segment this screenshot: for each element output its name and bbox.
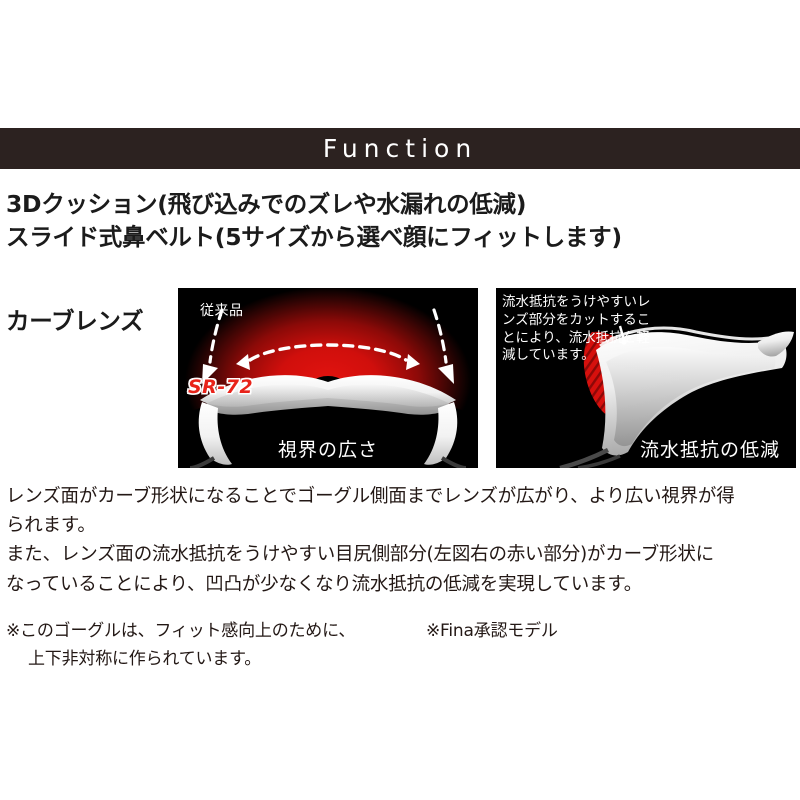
footnotes: ※このゴーグルは、フィット感向上のために、 ※Fina承認モデル 上下非対称に作… bbox=[6, 618, 796, 673]
curve-lens-label: カーブレンズ bbox=[6, 302, 143, 336]
legacy-product-label: 従来品 bbox=[200, 300, 244, 320]
body-line-4: なっていることにより、凹凸が少なくなり流水抵抗の低減を実現しています。 bbox=[6, 570, 796, 599]
caption-field-of-view: 視界の広さ bbox=[178, 435, 478, 462]
panel-field-of-view: 従来品 SR-72 視界の広さ bbox=[178, 288, 478, 468]
footnote-fina-approved: ※Fina承認モデル bbox=[426, 618, 558, 646]
function-banner: Function bbox=[0, 128, 800, 169]
panel-water-resistance: 流水抵抗をうけやすいレンズ部分をカットすることにより、流水抵抗を軽減しています。… bbox=[496, 288, 796, 468]
body-line-2: られます。 bbox=[6, 511, 796, 540]
footnote-row: ※このゴーグルは、フィット感向上のために、 ※Fina承認モデル bbox=[6, 618, 796, 646]
body-copy: レンズ面がカーブ形状になることでゴーグル側面までレンズが広がり、より広い視界が得… bbox=[6, 482, 796, 599]
footnote-asymmetry-line1: ※このゴーグルは、フィット感向上のために、 bbox=[6, 618, 426, 646]
model-badge-sr72: SR-72 bbox=[188, 376, 253, 398]
heading-slide-nose-belt: スライド式鼻ベルト(5サイズから選べ顔にフィットします) bbox=[6, 221, 794, 254]
figure-row: カーブレンズ bbox=[0, 288, 800, 470]
body-line-1: レンズ面がカーブ形状になることでゴーグル側面までレンズが広がり、より広い視界が得 bbox=[6, 482, 796, 511]
footnote-asymmetry-line2: 上下非対称に作られています。 bbox=[6, 646, 796, 674]
product-feature-page: Function 3Dクッション(飛び込みでのズレや水漏れの低減) スライド式鼻… bbox=[0, 0, 800, 800]
body-line-3: また、レンズ面の流水抵抗をうけやすい目尻側部分(左図右の赤い部分)がカーブ形状に bbox=[6, 540, 796, 569]
heading-3d-cushion: 3Dクッション(飛び込みでのズレや水漏れの低減) bbox=[6, 188, 794, 221]
feature-headings: 3Dクッション(飛び込みでのズレや水漏れの低減) スライド式鼻ベルト(5サイズか… bbox=[6, 188, 794, 255]
water-resistance-overlay-text: 流水抵抗をうけやすいレンズ部分をカットすることにより、流水抵抗を軽減しています。 bbox=[502, 294, 652, 365]
caption-water-resistance: 流水抵抗の低減 bbox=[496, 435, 796, 462]
banner-title: Function bbox=[323, 136, 477, 161]
